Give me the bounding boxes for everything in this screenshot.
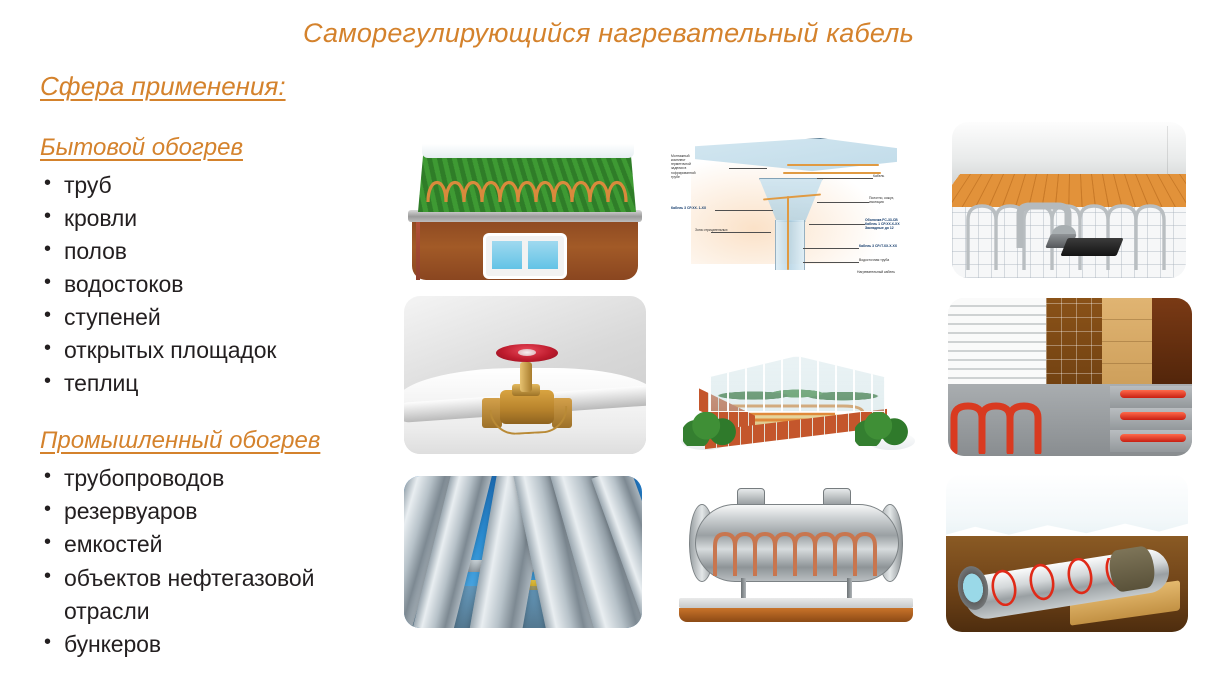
leader-line [729,168,767,169]
list-item: труб [40,169,390,202]
buried-pipe-illustration [946,474,1188,632]
foundation-pad [679,598,913,608]
list-item: емкостей [40,528,390,561]
diagram-label-mid-left: Кабель 3 CP.XX. 1-XX [671,206,729,210]
list-item: кровли [40,202,390,235]
diagram-label-right-2: Полотно, кожух, изоляция [869,196,919,204]
bush-right [855,412,913,446]
diagram-label-bottom-left: Зона отрицательных [695,228,751,232]
diagram-label-right-5: Водосточная труба [859,258,917,262]
window [486,236,564,276]
list-item: бункеров [40,628,390,661]
valve-stem [520,362,532,392]
tank-heating-cable-icon [711,530,883,576]
applications-text-column: Сфера применения: Бытовой обогрев труб к… [40,70,390,661]
cable-run-2 [783,172,881,174]
stairs-heating-illustration [948,298,1192,456]
valve-handwheel [496,344,558,362]
gallery-cell-greenhouse [667,292,925,464]
gallery-cell-buried-pipe [938,470,1196,640]
list-industrial: трубопроводов резервуаров емкостей объек… [40,462,390,661]
step-heating-cable [1120,434,1186,442]
list-item: полов [40,235,390,268]
cable-drop [787,196,789,270]
list-item: ступеней [40,301,390,334]
leader-line [711,232,771,233]
section-heading-domestic: Бытовой обогрев [40,133,390,163]
list-item: объектов нефтегазовой отрасли [40,562,390,628]
section-spacer [40,400,390,426]
step-heating-cable [1120,390,1186,398]
diagram-label-right-6: Нагревательный кабель [857,270,917,274]
list-item: трубопроводов [40,462,390,495]
radiator-panel [948,298,1046,390]
tank-heating-illustration [671,478,921,630]
snow-layer [422,132,634,158]
roof-heating-cable-icon [426,170,628,204]
dark-wall-layer [1152,298,1192,394]
industrial-pipes-photo [404,476,642,628]
gallery-cell-tank [667,470,925,640]
cable-block [1060,238,1123,256]
diagram-label-right-4: Кабель 3 CP./T.XX.X.XX [859,244,919,248]
drain-diagram-illustration: Монтажный комплект герметичной заделки в… [667,116,925,282]
pipe-sleeve [1107,545,1157,593]
bush-left [683,412,741,446]
diagram-label-right-3: Оболочка FC-33-CB Кабель 1 CP.XX.X-XX За… [865,218,921,230]
warm-floor-illustration [952,122,1186,278]
leader-line [803,248,859,249]
illustration-grid: Монтажный комплект герметичной заделки в… [396,112,1196,672]
gallery-cell-roof [396,112,654,286]
downpipe-cable [416,218,420,280]
leader-line [809,224,865,225]
foundation-base [679,608,913,622]
diagram-label-right-1: Кабель [873,174,919,178]
gallery-cell-stairs [938,292,1196,464]
gallery-cell-warm-floor [938,112,1196,286]
slide-root: Саморегулирующийся нагревательный кабель… [0,0,1217,693]
leader-line [803,262,859,263]
list-domestic: труб кровли полов водостоков ступеней от… [40,169,390,401]
drain-pipe [775,220,805,270]
leader-line [817,202,869,203]
roof-heating-illustration [400,118,650,280]
applications-heading: Сфера применения: [40,70,390,103]
floor-heating-cable-icon [950,396,1060,454]
leader-line [715,210,773,211]
cable-run-1 [787,164,879,166]
gallery-cell-valve [396,292,654,464]
greenhouse-frame [709,356,885,412]
gallery-cell-drain-diagram: Монтажный комплект герметичной заделки в… [667,112,925,286]
step-heating-cable [1120,412,1186,420]
list-item: открытых площадок [40,334,390,367]
gallery-cell-industrial-pipes [396,470,654,640]
greenhouse-illustration [679,302,917,452]
diagram-label-top-left: Монтажный комплект герметичной заделки в… [671,154,727,179]
section-heading-industrial: Промышленный обогрев [40,426,390,456]
list-item: теплиц [40,367,390,400]
valve-pipe-illustration [404,296,646,454]
leader-line [817,178,873,179]
list-item: резервуаров [40,495,390,528]
page-title: Саморегулирующийся нагревательный кабель [0,18,1217,49]
list-item: водостоков [40,268,390,301]
